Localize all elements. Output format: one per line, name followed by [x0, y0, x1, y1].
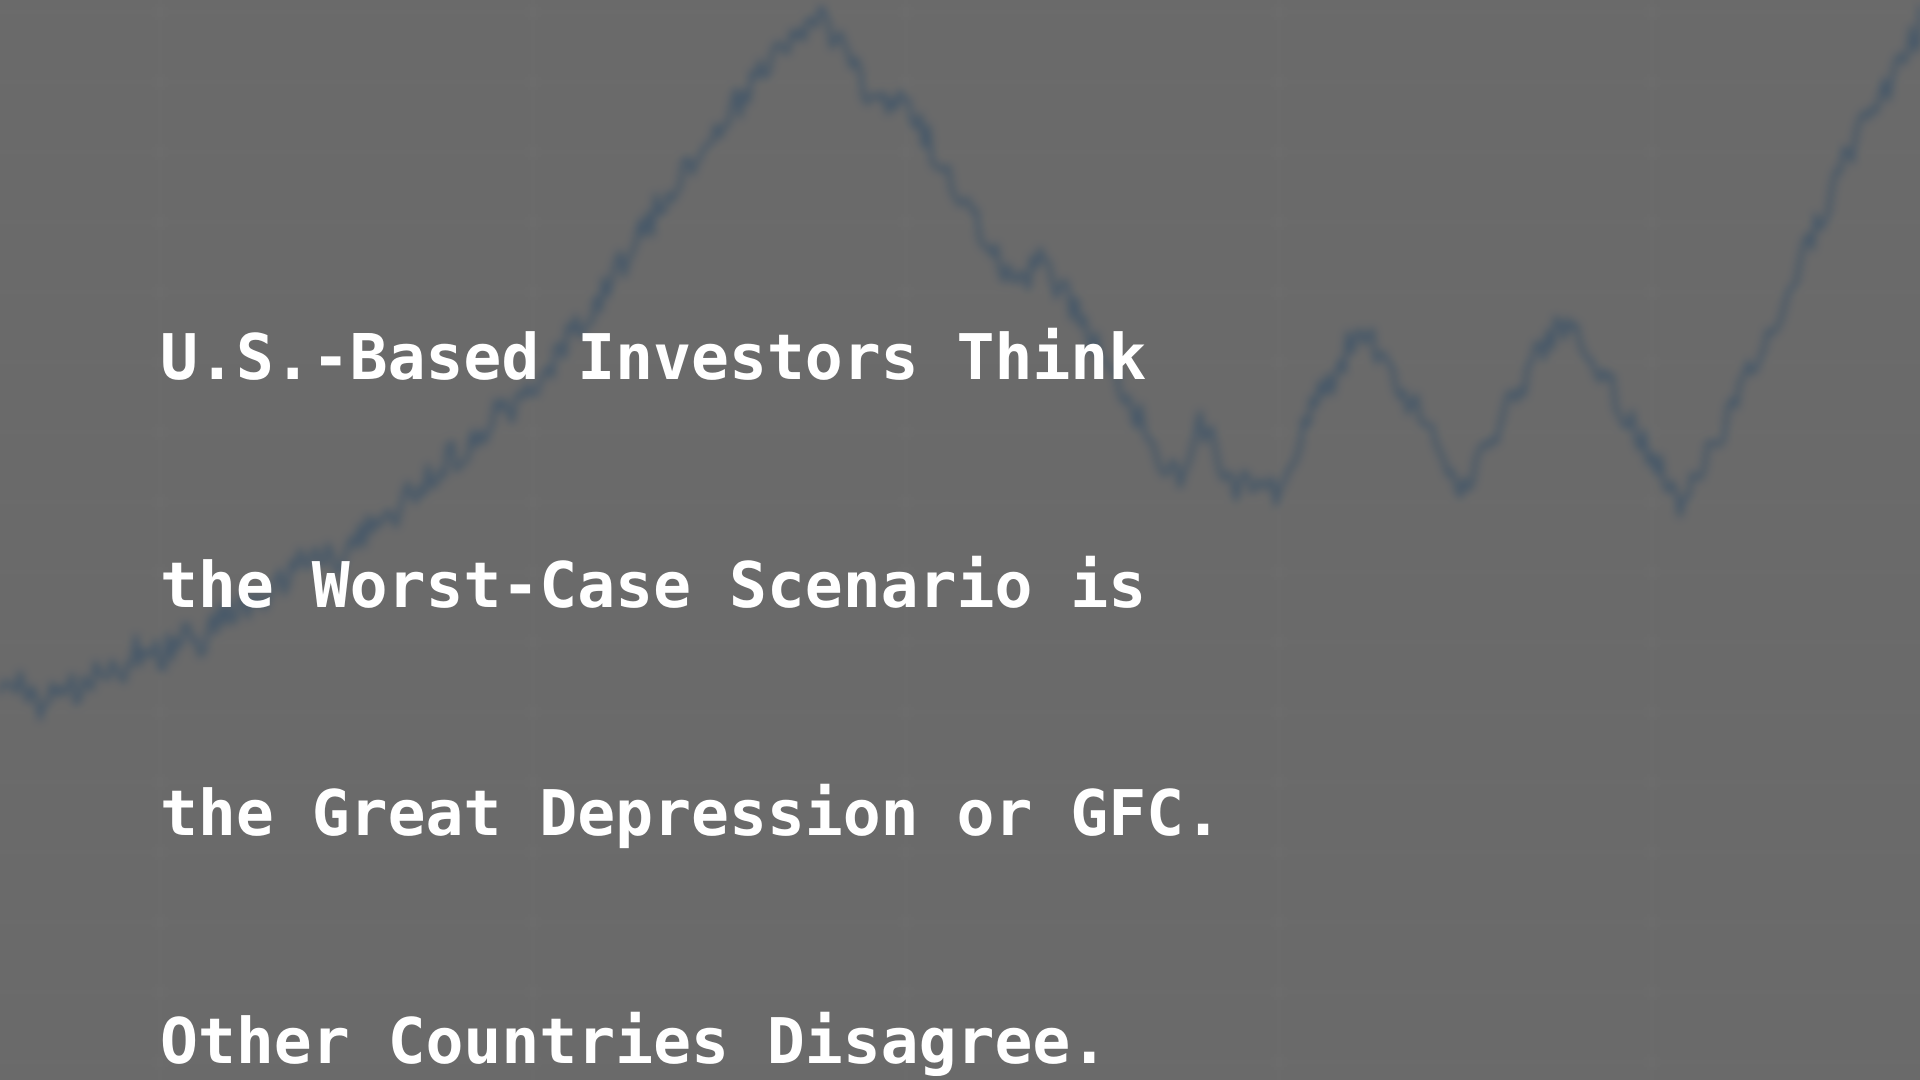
headline-line-1: U.S.-Based Investors Think [160, 320, 1460, 396]
headline-line-4: Other Countries Disagree. [160, 1004, 1460, 1080]
hero-banner: U.S.-Based Investors Think the Worst-Cas… [0, 0, 1920, 1080]
headline-line-3: the Great Depression or GFC. [160, 776, 1460, 852]
hero-text-block: U.S.-Based Investors Think the Worst-Cas… [160, 168, 1460, 1080]
headline-line-2: the Worst-Case Scenario is [160, 548, 1460, 624]
page-title: U.S.-Based Investors Think the Worst-Cas… [160, 168, 1460, 1080]
